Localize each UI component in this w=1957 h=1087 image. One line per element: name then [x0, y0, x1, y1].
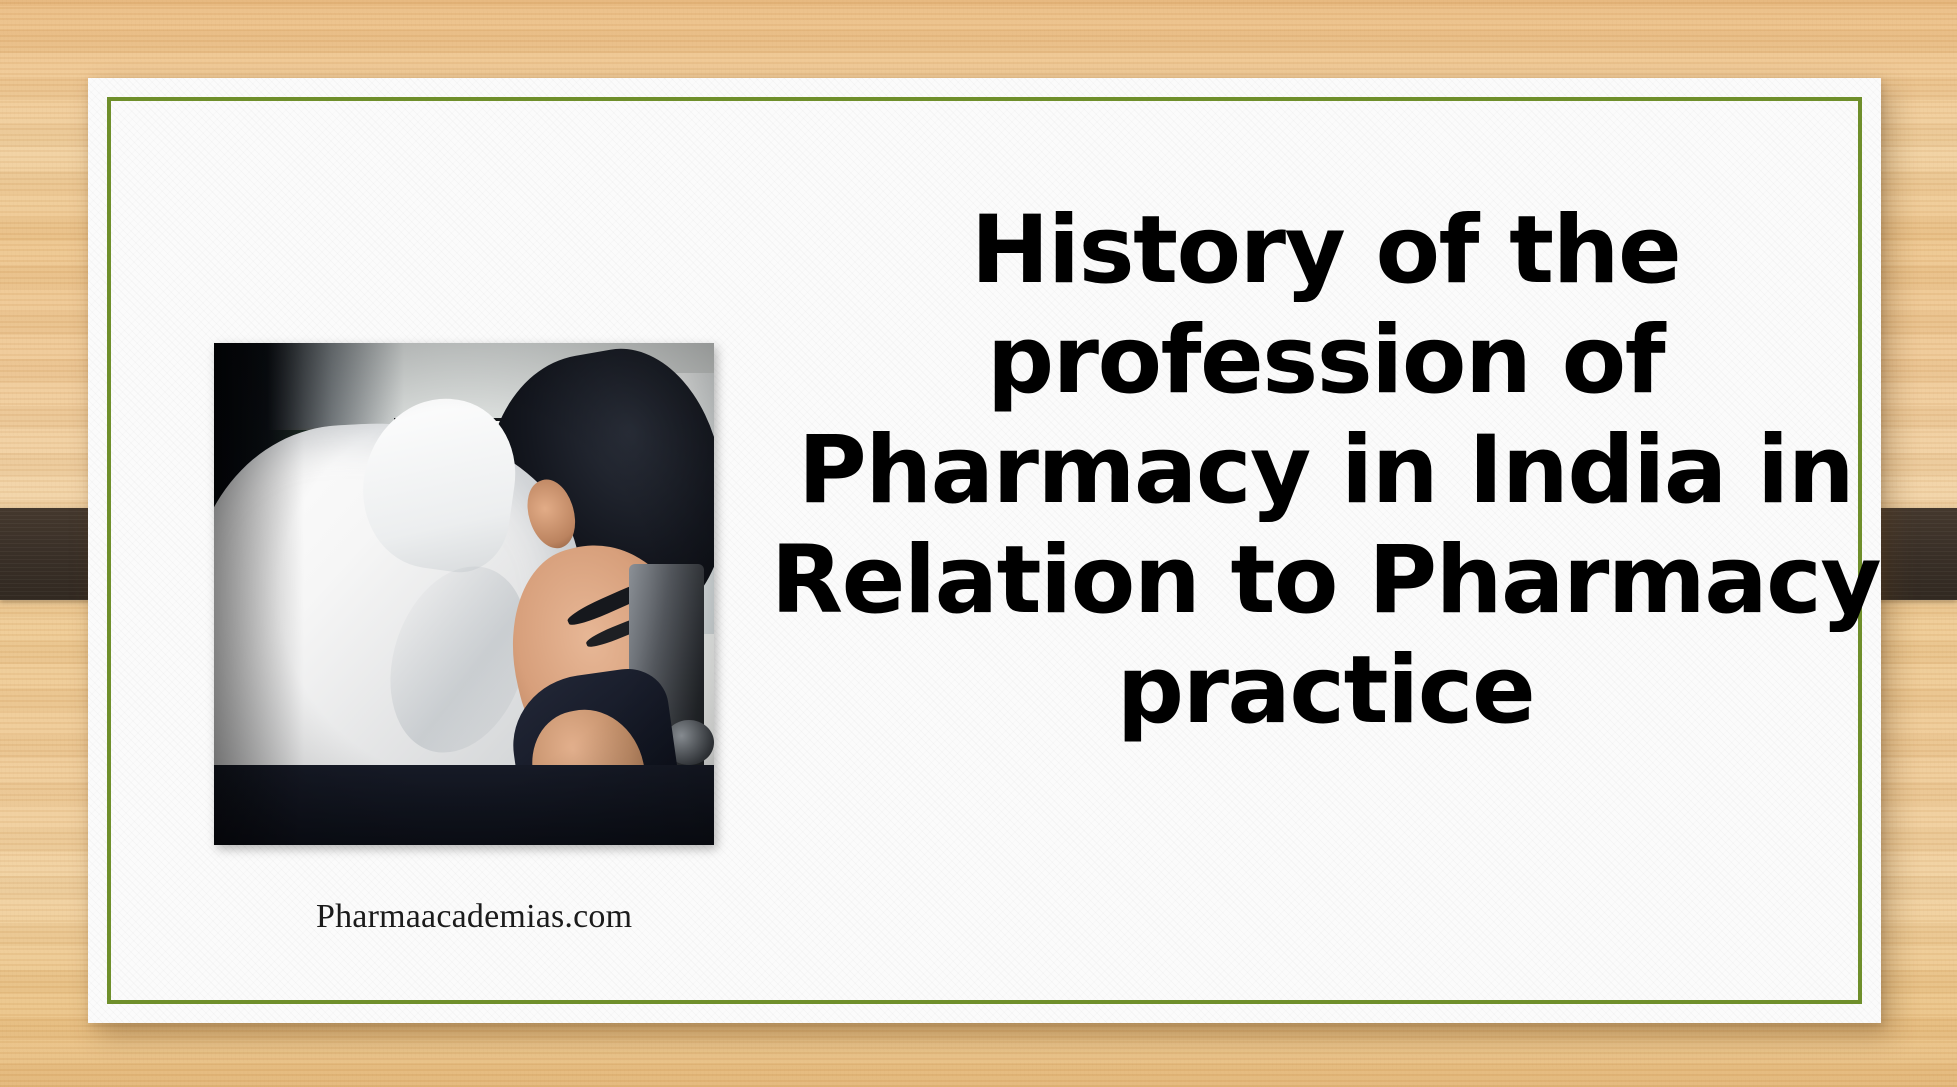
photo-lower-dark-band	[214, 765, 714, 845]
slide-root: Pharmaacademias.com History of the profe…	[0, 0, 1957, 1087]
title-line-5: practice	[708, 636, 1943, 746]
title-line-2: profession of	[708, 306, 1943, 416]
slide-title: History of the profession of Pharmacy in…	[708, 196, 1943, 746]
microscope-photo	[214, 343, 714, 845]
slide-card: Pharmaacademias.com History of the profe…	[88, 78, 1881, 1023]
title-line-1: History of the	[708, 196, 1943, 306]
title-line-4: Relation to Pharmacy	[708, 526, 1943, 636]
title-line-3: Pharmacy in India in	[708, 416, 1943, 526]
watermark-text: Pharmaacademias.com	[316, 898, 632, 936]
photo-canvas	[214, 343, 714, 845]
